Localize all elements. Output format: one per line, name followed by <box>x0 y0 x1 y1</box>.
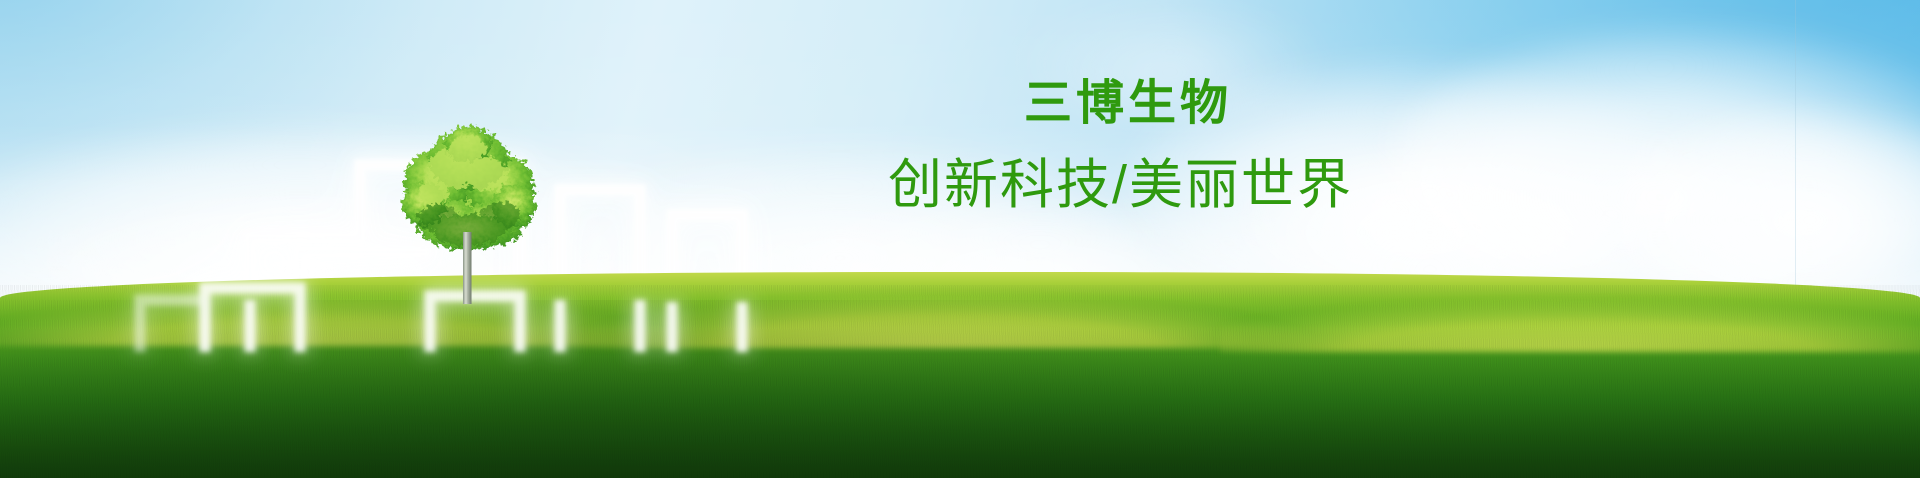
hero-banner: 三博生物 创新科技/美丽世界 <box>0 0 1920 478</box>
page-subtitle: 创新科技/美丽世界 <box>888 158 1353 212</box>
green-tree <box>388 104 548 304</box>
page-title: 三博生物 <box>1024 80 1232 128</box>
